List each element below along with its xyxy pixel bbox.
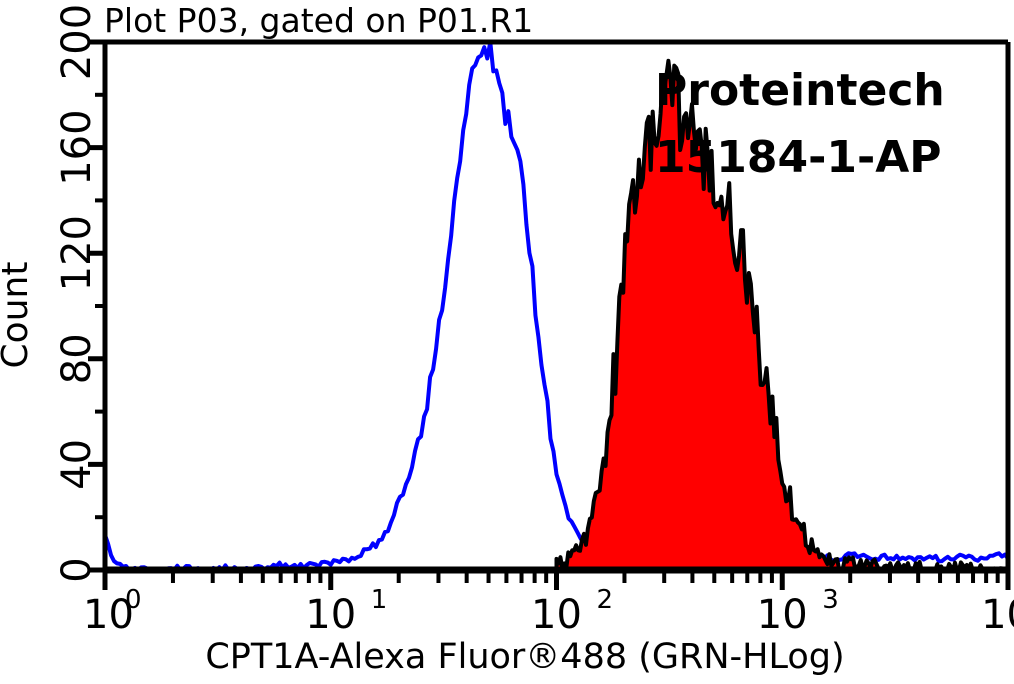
y-axis-label: Count (0, 262, 36, 369)
flow-cytometry-figure: Plot P03, gated on P01.R1 Count CPT1A-Al… (0, 0, 1014, 684)
svg-text:2: 2 (597, 585, 614, 615)
svg-text:10: 10 (757, 592, 808, 638)
svg-text:0: 0 (125, 585, 142, 615)
y-tick-label: 0 (54, 557, 100, 582)
svg-text:40: 40 (54, 439, 100, 490)
svg-text:200: 200 (54, 4, 100, 80)
svg-text:1: 1 (371, 585, 388, 615)
page-title: Plot P03, gated on P01.R1 (104, 1, 533, 40)
catalog-annotation: 15184-1-AP (655, 132, 942, 183)
svg-text:0: 0 (54, 557, 100, 582)
svg-text:10: 10 (531, 592, 582, 638)
brand-annotation: Proteintech (655, 65, 945, 116)
svg-text:10: 10 (981, 592, 1014, 638)
svg-text:160: 160 (54, 109, 100, 185)
y-tick-label: 120 (54, 215, 100, 291)
svg-text:120: 120 (54, 215, 100, 291)
histogram-plot: Plot P03, gated on P01.R1 Count CPT1A-Al… (0, 0, 1014, 684)
y-tick-label: 40 (54, 439, 100, 490)
x-tick-label: 104 (981, 585, 1014, 638)
y-tick-label: 200 (54, 4, 100, 80)
x-axis-label: CPT1A-Alexa Fluor®488 (GRN-HLog) (205, 637, 844, 677)
svg-text:Count: Count (0, 262, 36, 369)
y-tick-label: 80 (54, 333, 100, 384)
svg-text:3: 3 (822, 585, 839, 615)
y-tick-label: 160 (54, 109, 100, 185)
svg-text:80: 80 (54, 333, 100, 384)
svg-text:10: 10 (305, 592, 356, 638)
x-tick-label: 100 (83, 585, 142, 638)
